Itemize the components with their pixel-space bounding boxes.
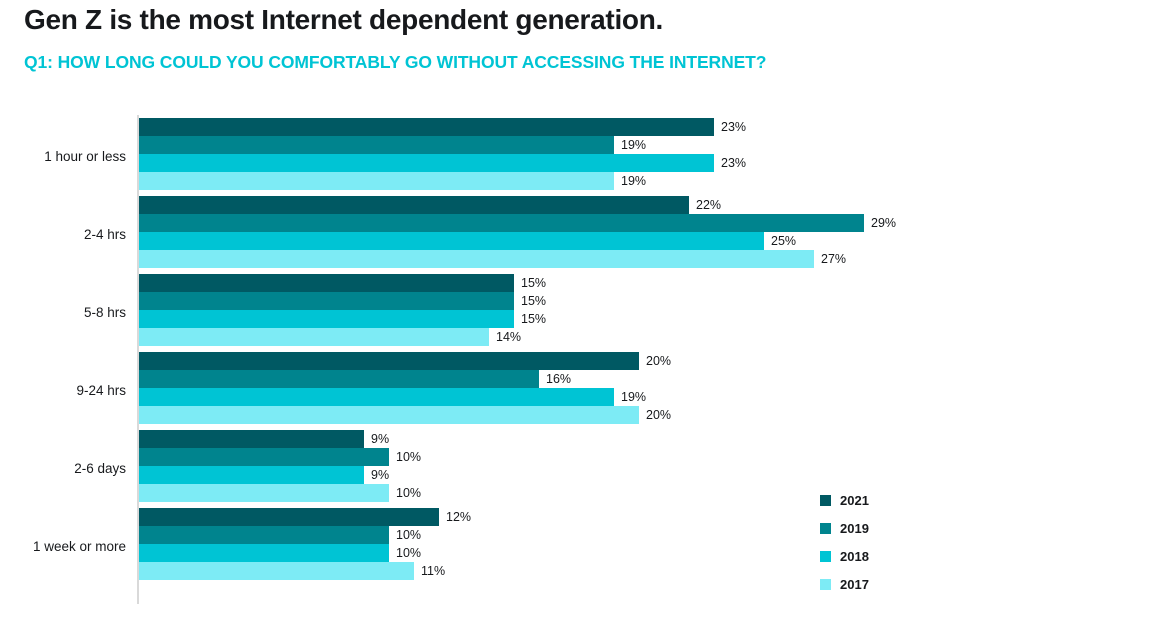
bar-group: 2-4 hrs22%29%25%27% [0,195,1164,273]
category-label: 5-8 hrs [0,273,126,351]
chart-subtitle: Q1: HOW LONG COULD YOU COMFORTABLY GO WI… [24,50,884,75]
bar-group: 1 hour or less23%19%23%19% [0,117,1164,195]
bar-row: 20% [139,352,671,370]
bar-2018-2[interactable] [139,310,514,328]
category-label: 1 week or more [0,507,126,585]
bar-row: 19% [139,388,646,406]
bar-2017-3[interactable] [139,406,639,424]
bar-value-label: 16% [546,370,571,388]
bar-group: 2-6 days9%10%9%10% [0,429,1164,507]
bar-value-label: 15% [521,274,546,292]
bar-value-label: 10% [396,448,421,466]
bar-row: 9% [139,466,389,484]
bar-value-label: 23% [721,118,746,136]
bar-value-label: 19% [621,172,646,190]
bar-2018-4[interactable] [139,466,364,484]
chart-legend: 2021201920182017 [820,486,960,598]
bar-value-label: 23% [721,154,746,172]
bar-row: 16% [139,370,571,388]
bar-row: 27% [139,250,846,268]
bar-value-label: 14% [496,328,521,346]
legend-swatch-icon [820,579,831,590]
bar-row: 15% [139,292,546,310]
bar-value-label: 12% [446,508,471,526]
legend-label: 2017 [840,577,869,592]
bar-value-label: 15% [521,292,546,310]
chart-title: Gen Z is the most Internet dependent gen… [24,4,1124,36]
chart-page: Gen Z is the most Internet dependent gen… [0,0,1164,624]
bar-2018-5[interactable] [139,544,389,562]
bar-row: 10% [139,448,421,466]
bar-row: 14% [139,328,521,346]
bar-row: 11% [139,562,445,580]
bar-value-label: 20% [646,352,671,370]
bar-value-label: 29% [871,214,896,232]
legend-swatch-icon [820,495,831,506]
bar-2021-5[interactable] [139,508,439,526]
bar-2021-3[interactable] [139,352,639,370]
category-label: 2-6 days [0,429,126,507]
legend-label: 2018 [840,549,869,564]
bar-row: 12% [139,508,471,526]
bar-2021-2[interactable] [139,274,514,292]
bar-2021-0[interactable] [139,118,714,136]
legend-label: 2021 [840,493,869,508]
bar-row: 23% [139,118,746,136]
legend-swatch-icon [820,551,831,562]
bar-2019-5[interactable] [139,526,389,544]
bar-row: 25% [139,232,796,250]
legend-item-2018[interactable]: 2018 [820,542,960,570]
bar-2019-2[interactable] [139,292,514,310]
bar-value-label: 10% [396,544,421,562]
bar-group: 1 week or more12%10%10%11% [0,507,1164,585]
bar-row: 10% [139,544,421,562]
bar-row: 10% [139,526,421,544]
bar-value-label: 9% [371,466,389,484]
category-label: 1 hour or less [0,117,126,195]
bar-value-label: 10% [396,526,421,544]
bar-2019-4[interactable] [139,448,389,466]
bar-2017-5[interactable] [139,562,414,580]
bar-value-label: 27% [821,250,846,268]
plot-area: 1 hour or less23%19%23%19%2-4 hrs22%29%2… [0,115,1164,609]
legend-label: 2019 [840,521,869,536]
bar-value-label: 22% [696,196,721,214]
bar-2018-1[interactable] [139,232,764,250]
legend-item-2021[interactable]: 2021 [820,486,960,514]
bar-row: 19% [139,136,646,154]
bar-2019-1[interactable] [139,214,864,232]
bar-row: 15% [139,274,546,292]
bar-value-label: 25% [771,232,796,250]
bar-2018-0[interactable] [139,154,714,172]
category-label: 2-4 hrs [0,195,126,273]
bar-2018-3[interactable] [139,388,614,406]
bar-group: 5-8 hrs15%15%15%14% [0,273,1164,351]
bar-2017-2[interactable] [139,328,489,346]
bar-row: 29% [139,214,896,232]
legend-swatch-icon [820,523,831,534]
bar-2017-1[interactable] [139,250,814,268]
bar-value-label: 19% [621,136,646,154]
bar-value-label: 15% [521,310,546,328]
bar-row: 19% [139,172,646,190]
bar-row: 22% [139,196,721,214]
bar-2019-0[interactable] [139,136,614,154]
bar-value-label: 9% [371,430,389,448]
bar-value-label: 19% [621,388,646,406]
bar-2017-0[interactable] [139,172,614,190]
bar-2017-4[interactable] [139,484,389,502]
bar-row: 10% [139,484,421,502]
legend-item-2017[interactable]: 2017 [820,570,960,598]
bar-row: 15% [139,310,546,328]
bar-value-label: 20% [646,406,671,424]
bar-value-label: 11% [421,562,445,580]
bar-row: 20% [139,406,671,424]
bar-2019-3[interactable] [139,370,539,388]
category-label: 9-24 hrs [0,351,126,429]
bar-row: 23% [139,154,746,172]
bar-group: 9-24 hrs20%16%19%20% [0,351,1164,429]
bar-2021-1[interactable] [139,196,689,214]
bar-row: 9% [139,430,389,448]
bar-2021-4[interactable] [139,430,364,448]
bar-value-label: 10% [396,484,421,502]
legend-item-2019[interactable]: 2019 [820,514,960,542]
